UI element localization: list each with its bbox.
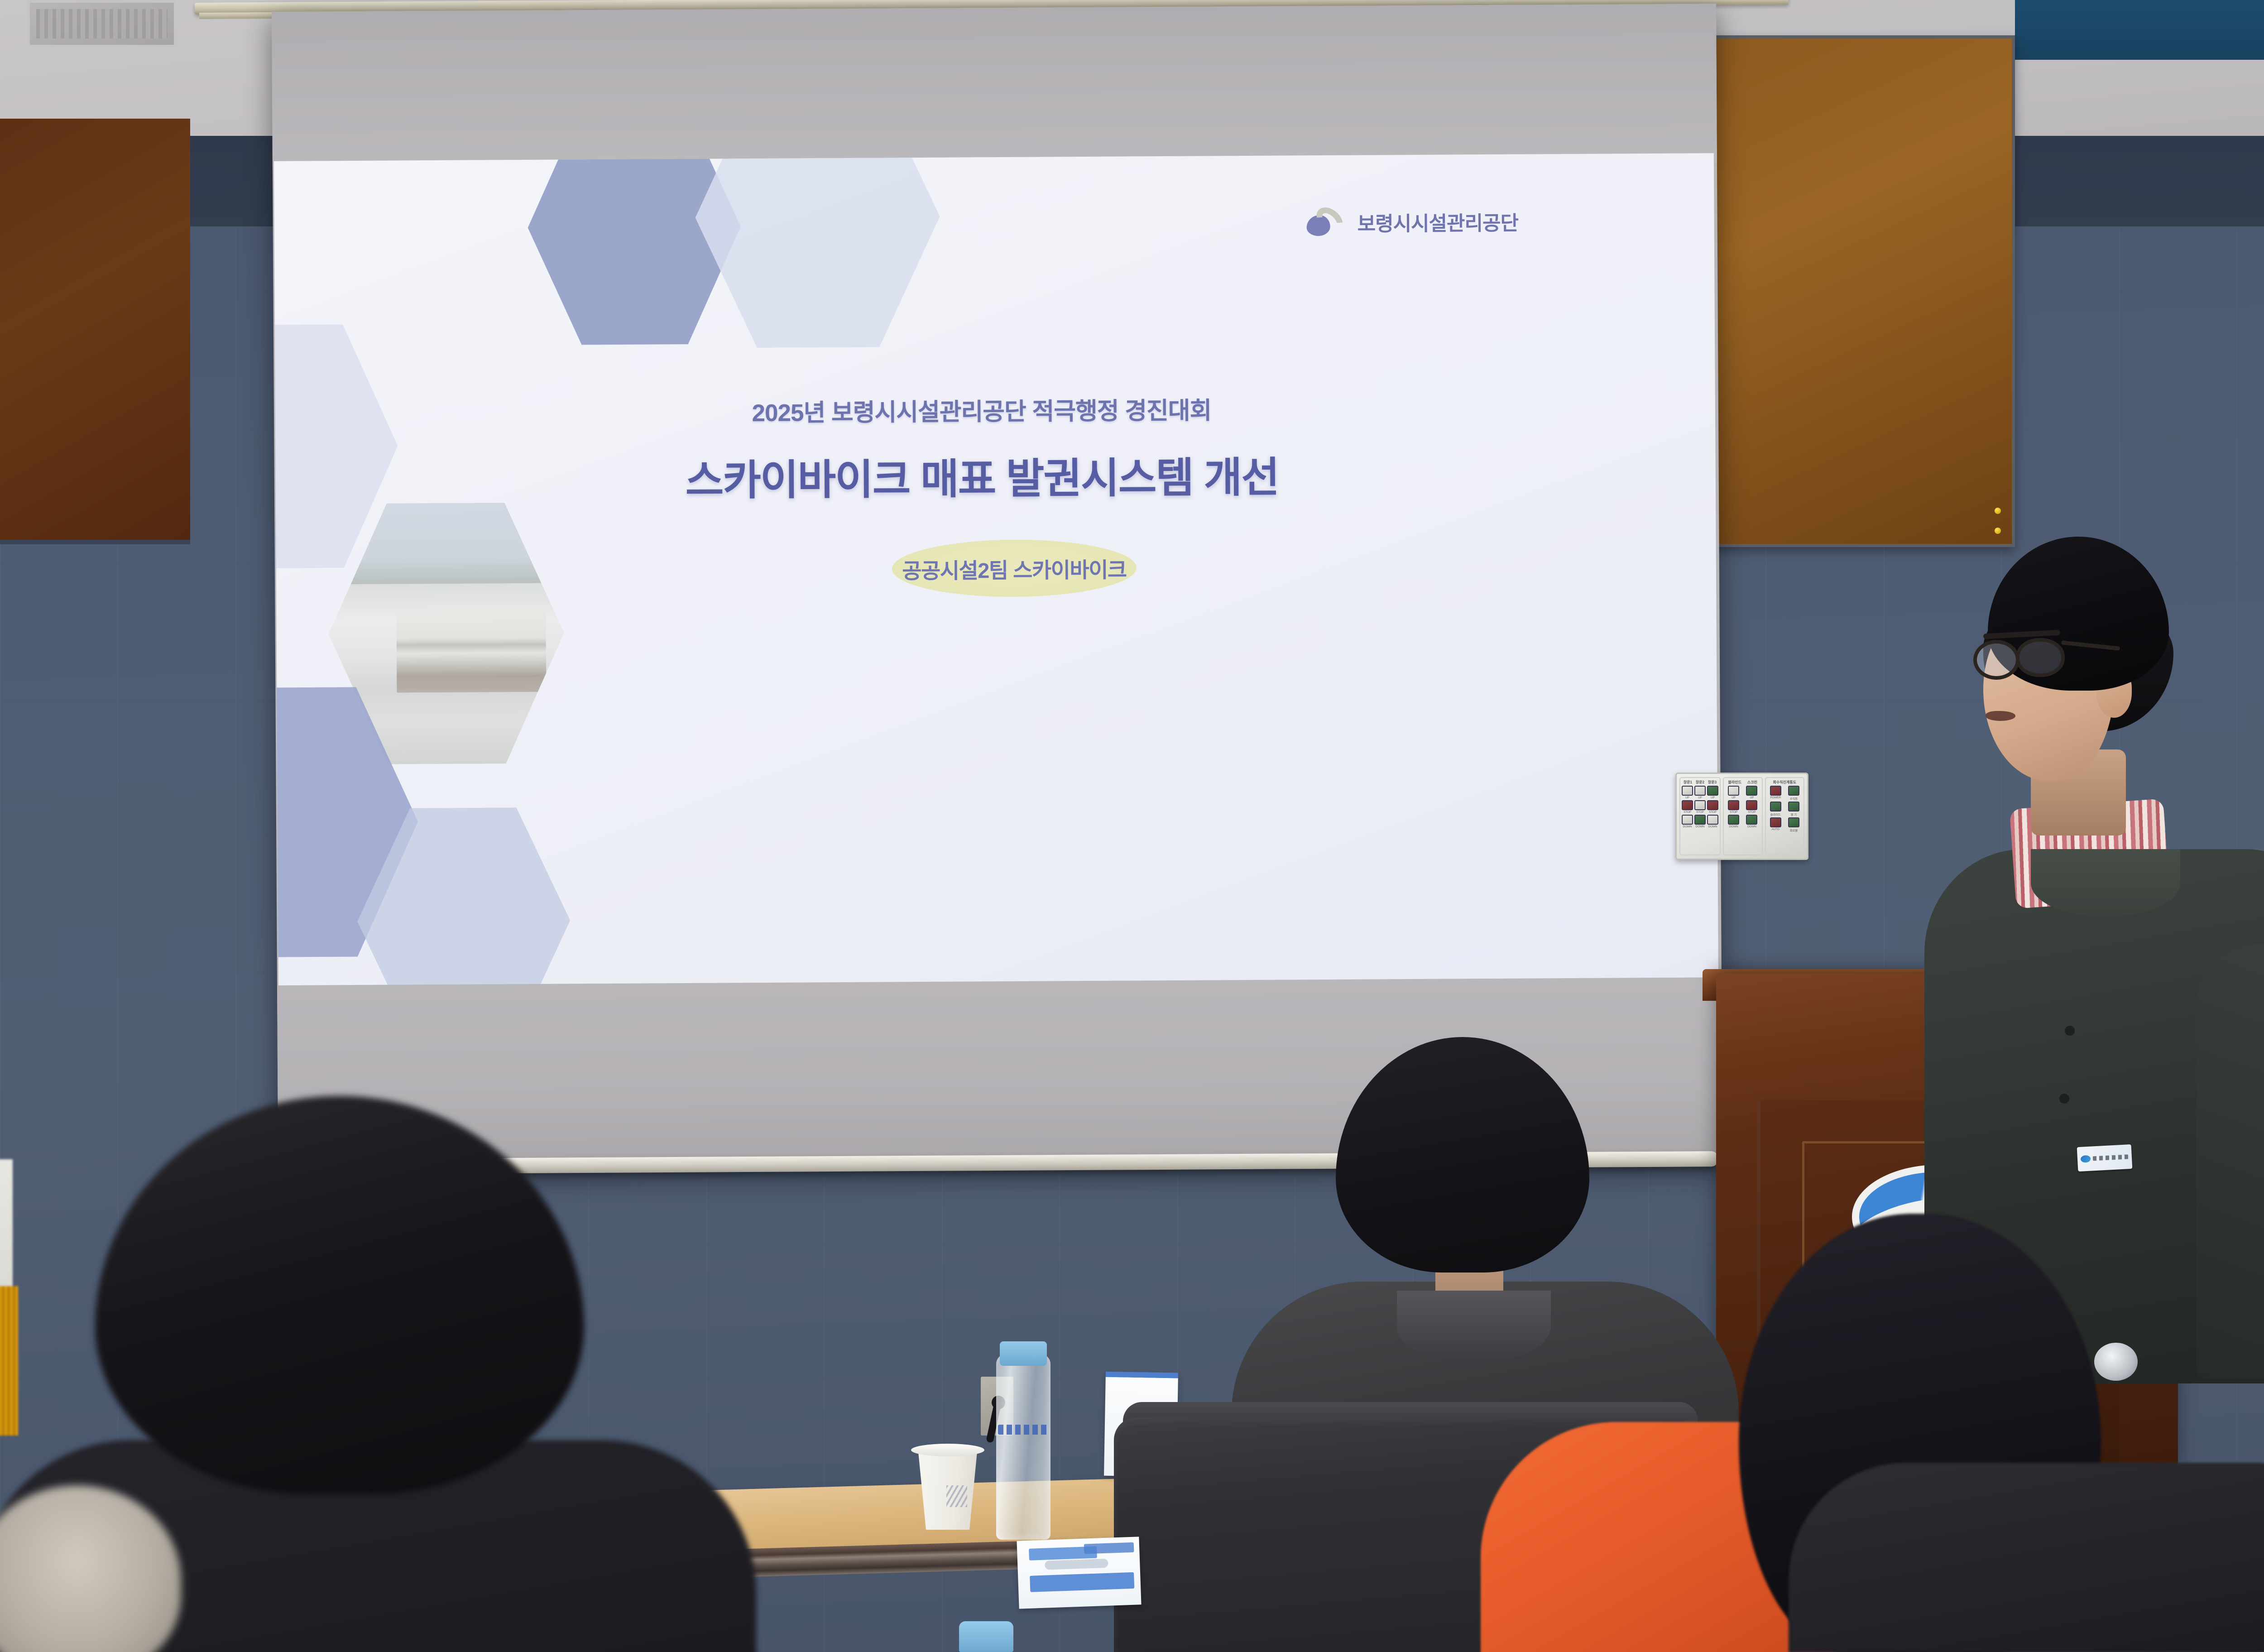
- control-button-down[interactable]: [1707, 815, 1718, 825]
- control-button-stop[interactable]: [1682, 800, 1693, 810]
- audience-collar: [1397, 1291, 1551, 1363]
- flag-gold-fringe: [0, 1286, 18, 1436]
- audience-foreground-hair: [95, 1096, 584, 1494]
- paper-cup-logo-icon: [946, 1485, 967, 1507]
- slide-logo-text: 보령시시설관리공단: [1357, 207, 1518, 237]
- control-caption: 불 기: [1791, 812, 1797, 816]
- control-caption: STOP: [1748, 811, 1756, 814]
- control-button-down[interactable]: [1694, 815, 1706, 825]
- slide-text-block: 2025년 보령시시설관리공단 적극행정 경진대회 스카이바이크 매표 발권시스…: [275, 389, 1716, 509]
- control-caption: STOP: [1684, 811, 1691, 814]
- control-caption: DOWN: [1729, 825, 1738, 828]
- control-caption: UP: [1685, 796, 1689, 799]
- control-button-light[interactable]: [1788, 786, 1799, 796]
- projection-screen: 보령시시설관리공단 2025년 보령시시설관리공단 적극행정 경진대회 스카이바…: [272, 4, 1722, 1172]
- projected-slide: 보령시시설관리공단 2025년 보령시시설관리공단 적극행정 경진대회 스카이바…: [274, 153, 1718, 990]
- control-caption: UP: [1750, 796, 1754, 799]
- bottle-cap: [1000, 1341, 1047, 1366]
- control-button-down[interactable]: [1682, 815, 1693, 825]
- control-button-up[interactable]: [1682, 786, 1693, 796]
- glasses-icon: [2016, 638, 2065, 677]
- wristwatch: [2094, 1343, 2138, 1381]
- sweater-button: [2059, 1094, 2069, 1104]
- control-group-windows[interactable]: 창문1 창문2 창문3 UP UP UP STOP STOP STOP DOWN…: [1679, 777, 1721, 855]
- control-caption: 회로불: [1790, 828, 1798, 832]
- control-caption: UP: [1698, 796, 1702, 799]
- control-group-blind-screen[interactable]: 블라인드 스크린 UP UP STOP STOP DOWN DOWN: [1723, 777, 1763, 855]
- audience-member-foreground-left: [95, 1096, 684, 1652]
- speaker-mouth: [1986, 711, 2015, 721]
- photo-sky: [328, 497, 564, 584]
- screen-fabric-top: [272, 4, 1717, 170]
- control-caption: STOP: [1730, 811, 1737, 814]
- bottle-label-text: [998, 1425, 1049, 1435]
- slide-team-label: 공공시설2팀 스카이바이크: [902, 552, 1127, 585]
- control-caption: POWER: [1770, 796, 1781, 799]
- control-button-up[interactable]: [1707, 786, 1718, 796]
- control-header: 회수직진계통도: [1773, 780, 1796, 785]
- slide-title: 스카이바이크 매표 발권시스템 개선: [275, 442, 1688, 509]
- control-caption: STOP: [1696, 811, 1704, 814]
- pushpin-icon: [1995, 508, 2001, 514]
- audience-member-right-shoulder: [1789, 1463, 2264, 1652]
- control-button-fire[interactable]: [1788, 802, 1799, 812]
- slide-logo: 보령시시설관리공단: [1306, 207, 1518, 237]
- control-button-power[interactable]: [1770, 786, 1781, 796]
- name-badge: [2077, 1144, 2133, 1172]
- badge-name-text: [2093, 1154, 2129, 1161]
- paper-cup-rim: [911, 1444, 984, 1456]
- av-control-panel[interactable]: 창문1 창문2 창문3 UP UP UP STOP STOP STOP DOWN…: [1675, 773, 1808, 860]
- control-caption: STOP: [1709, 811, 1717, 814]
- hexagon-decor: [695, 153, 940, 354]
- control-header: 창문2: [1696, 780, 1704, 785]
- photo-building: [396, 610, 546, 693]
- ceiling-vent: [27, 0, 177, 48]
- sweater-button: [2065, 1026, 2075, 1036]
- corkboard: [1693, 35, 2015, 547]
- bottle-label: [996, 1413, 1050, 1464]
- control-button-stop[interactable]: [1707, 800, 1718, 810]
- corporation-logo-icon: [1306, 209, 1345, 236]
- control-button-stop[interactable]: [1694, 800, 1706, 810]
- speaker-arm: [2196, 944, 2264, 1379]
- control-button-slide[interactable]: [1770, 802, 1781, 812]
- control-header: 창문1: [1684, 780, 1692, 785]
- hexagon-decor: [357, 802, 571, 990]
- control-header: 창문3: [1708, 780, 1717, 785]
- control-caption: DOWN: [1747, 825, 1756, 828]
- table-name-card-front: [1017, 1537, 1141, 1609]
- control-button-up[interactable]: [1746, 786, 1757, 796]
- control-caption: UP: [1711, 796, 1715, 799]
- control-button-up[interactable]: [1694, 786, 1706, 796]
- control-caption: DOWN: [1708, 825, 1717, 828]
- control-caption: UP: [1732, 796, 1736, 799]
- wall-accent-band: [2015, 0, 2264, 60]
- badge-logo-icon: [2081, 1155, 2091, 1163]
- slide-team-pill: 공공시설2팀 스카이바이크: [892, 539, 1137, 597]
- glasses-icon: [1973, 640, 2019, 680]
- control-button-circuit[interactable]: [1788, 817, 1799, 827]
- control-button-down[interactable]: [1728, 815, 1739, 825]
- control-button-stop[interactable]: [1746, 800, 1757, 810]
- control-caption: DOWN: [1683, 825, 1692, 828]
- speaker-neckline: [2031, 849, 2180, 917]
- pushpin-icon: [1995, 528, 2001, 534]
- control-button-up[interactable]: [1728, 786, 1739, 796]
- control-header: 블라인드: [1728, 780, 1741, 785]
- slide-eyebrow: 2025년 보령시시설관리공단 적극행정 경진대회: [275, 389, 1688, 431]
- control-button-stop[interactable]: [1728, 800, 1739, 810]
- control-caption: 슬라이드: [1770, 812, 1781, 816]
- control-caption: DOWN: [1696, 825, 1705, 828]
- control-caption: AUTO: [1772, 828, 1780, 831]
- control-group-power[interactable]: 회수직진계통도 POWER 수직등 슬라이드 불 기 AUTO 회로불: [1765, 777, 1805, 855]
- second-bottle-cap: [959, 1621, 1013, 1652]
- wall-panel-left: [0, 119, 190, 544]
- photo-scene: 보령시시설관리공단 2025년 보령시시설관리공단 적극행정 경진대회 스카이바…: [0, 0, 2264, 1652]
- audience-hair: [1336, 1037, 1589, 1273]
- control-button-auto[interactable]: [1770, 817, 1781, 827]
- control-button-down[interactable]: [1746, 815, 1757, 825]
- control-header: 스크린: [1747, 780, 1757, 785]
- control-caption: 수직등: [1790, 796, 1798, 801]
